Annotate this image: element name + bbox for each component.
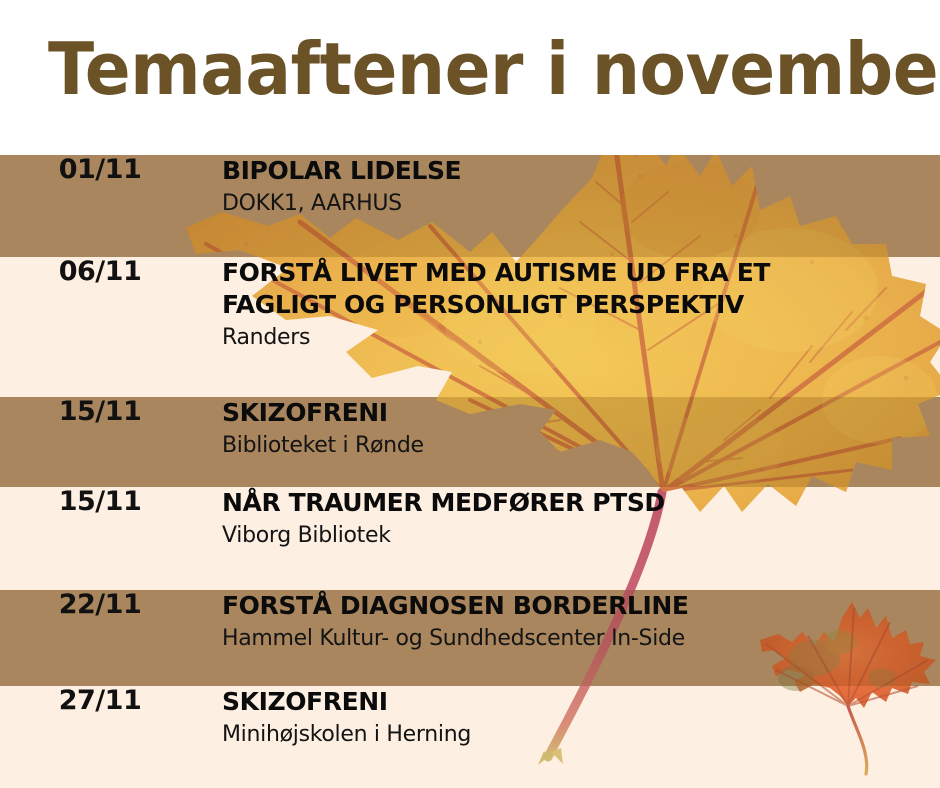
- event-list: [0, 155, 940, 788]
- poster-canvas: Temaaftener i november 01/11 BIPOLAR LID…: [0, 0, 940, 788]
- list-item[interactable]: [0, 397, 940, 487]
- list-item[interactable]: [0, 155, 940, 257]
- page-title: Temaaftener i november: [48, 28, 940, 110]
- list-item[interactable]: [0, 487, 940, 590]
- list-item[interactable]: [0, 257, 940, 397]
- poster-header: Temaaftener i november: [0, 0, 940, 155]
- list-item[interactable]: [0, 686, 940, 788]
- list-item[interactable]: [0, 590, 940, 686]
